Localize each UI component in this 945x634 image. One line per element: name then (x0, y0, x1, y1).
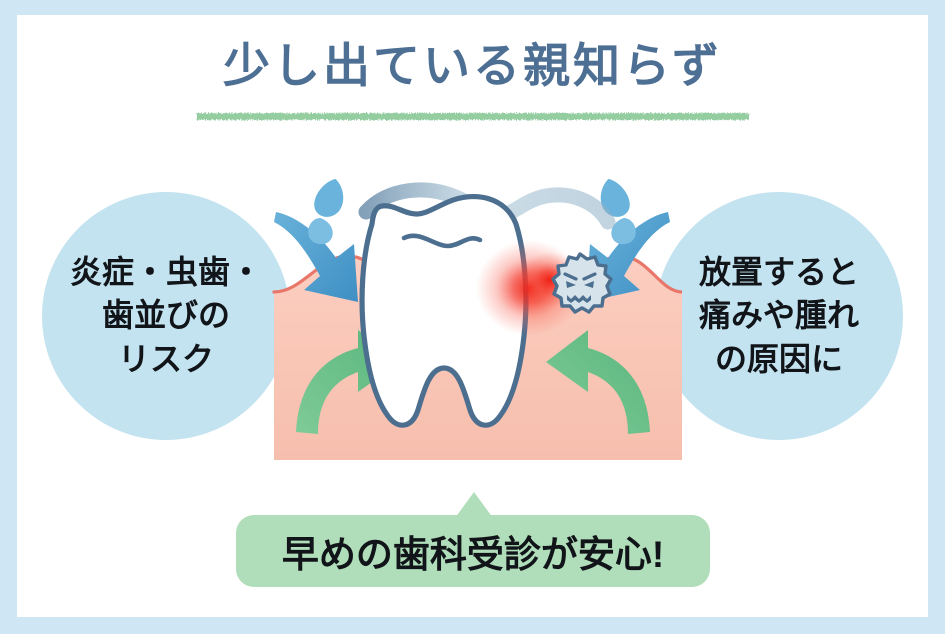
bubble-consequences-text: 放置すると 痛みや腫れ の原因に (699, 251, 859, 381)
bubble-risks-text: 炎症・虫歯・ 歯並びの リスク (70, 251, 262, 381)
cta-banner: 早めの歯科受診が安心! (236, 515, 710, 587)
tooth-illustration (262, 160, 682, 500)
page-title: 少し出ている親知らず (223, 40, 722, 92)
bubble-consequences: 放置すると 痛みや腫れ の原因に (655, 192, 903, 440)
title-block: 少し出ている親知らず (0, 40, 945, 92)
bubble-risks: 炎症・虫歯・ 歯並びの リスク (42, 192, 290, 440)
cta-banner-text: 早めの歯科受診が安心! (282, 524, 664, 578)
infographic-canvas: 少し出ている親知らず 炎症・虫歯・ 歯並びの リスク 放置すると 痛みや腫れ の… (0, 0, 945, 634)
title-underline-marker (193, 110, 753, 123)
